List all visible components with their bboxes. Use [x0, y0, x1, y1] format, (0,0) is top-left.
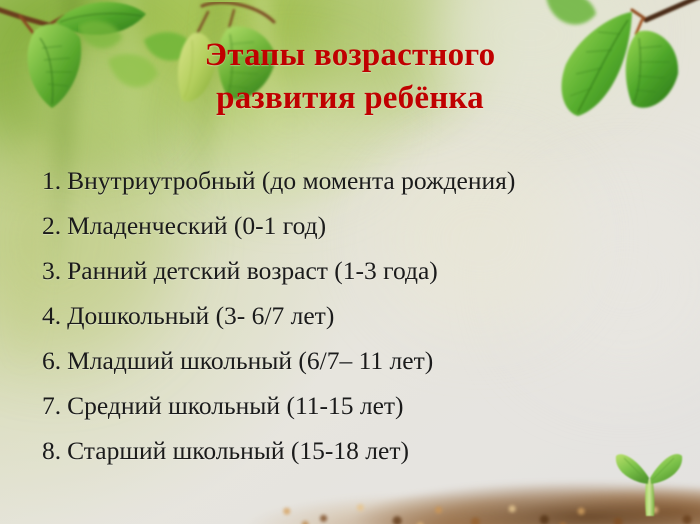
- list-item-label: Средний школьный (11-15 лет): [67, 391, 403, 420]
- list-item-number: 3.: [42, 256, 61, 285]
- list-item: 4.Дошкольный (3- 6/7 лет): [42, 293, 662, 338]
- list-item-number: 6.: [42, 346, 61, 375]
- list-item-number: 4.: [42, 301, 61, 330]
- list-item-number: 7.: [42, 391, 61, 420]
- list-item-label: Младенческий (0-1 год): [67, 211, 326, 240]
- list-item-number: 2.: [42, 211, 61, 240]
- list-item: 1.Внутриутробный (до момента рождения): [42, 158, 662, 203]
- stages-list: 1.Внутриутробный (до момента рождения) 2…: [42, 158, 662, 473]
- list-item: 6.Младший школьный (6/7– 11 лет): [42, 338, 662, 383]
- list-item-label: Ранний детский возраст (1-3 года): [67, 256, 438, 285]
- page-title-line-2: развития ребёнка: [0, 77, 700, 120]
- list-item-number: 8.: [42, 436, 61, 465]
- list-item: 8.Старший школьный (15-18 лет): [42, 428, 662, 473]
- page-title: Этапы возрастного развития ребёнка: [0, 34, 700, 120]
- page-title-line-1: Этапы возрастного: [0, 34, 700, 77]
- list-item: 3.Ранний детский возраст (1-3 года): [42, 248, 662, 293]
- soil-grain-texture: [250, 468, 700, 524]
- slide-canvas: Этапы возрастного развития ребёнка 1.Вну…: [0, 0, 700, 524]
- list-item-label: Младший школьный (6/7– 11 лет): [67, 346, 433, 375]
- list-item-label: Старший школьный (15-18 лет): [67, 436, 409, 465]
- list-item: 2.Младенческий (0-1 год): [42, 203, 662, 248]
- list-item-number: 1.: [42, 166, 61, 195]
- list-item-label: Внутриутробный (до момента рождения): [67, 166, 515, 195]
- list-item-label: Дошкольный (3- 6/7 лет): [67, 301, 334, 330]
- list-item: 7.Средний школьный (11-15 лет): [42, 383, 662, 428]
